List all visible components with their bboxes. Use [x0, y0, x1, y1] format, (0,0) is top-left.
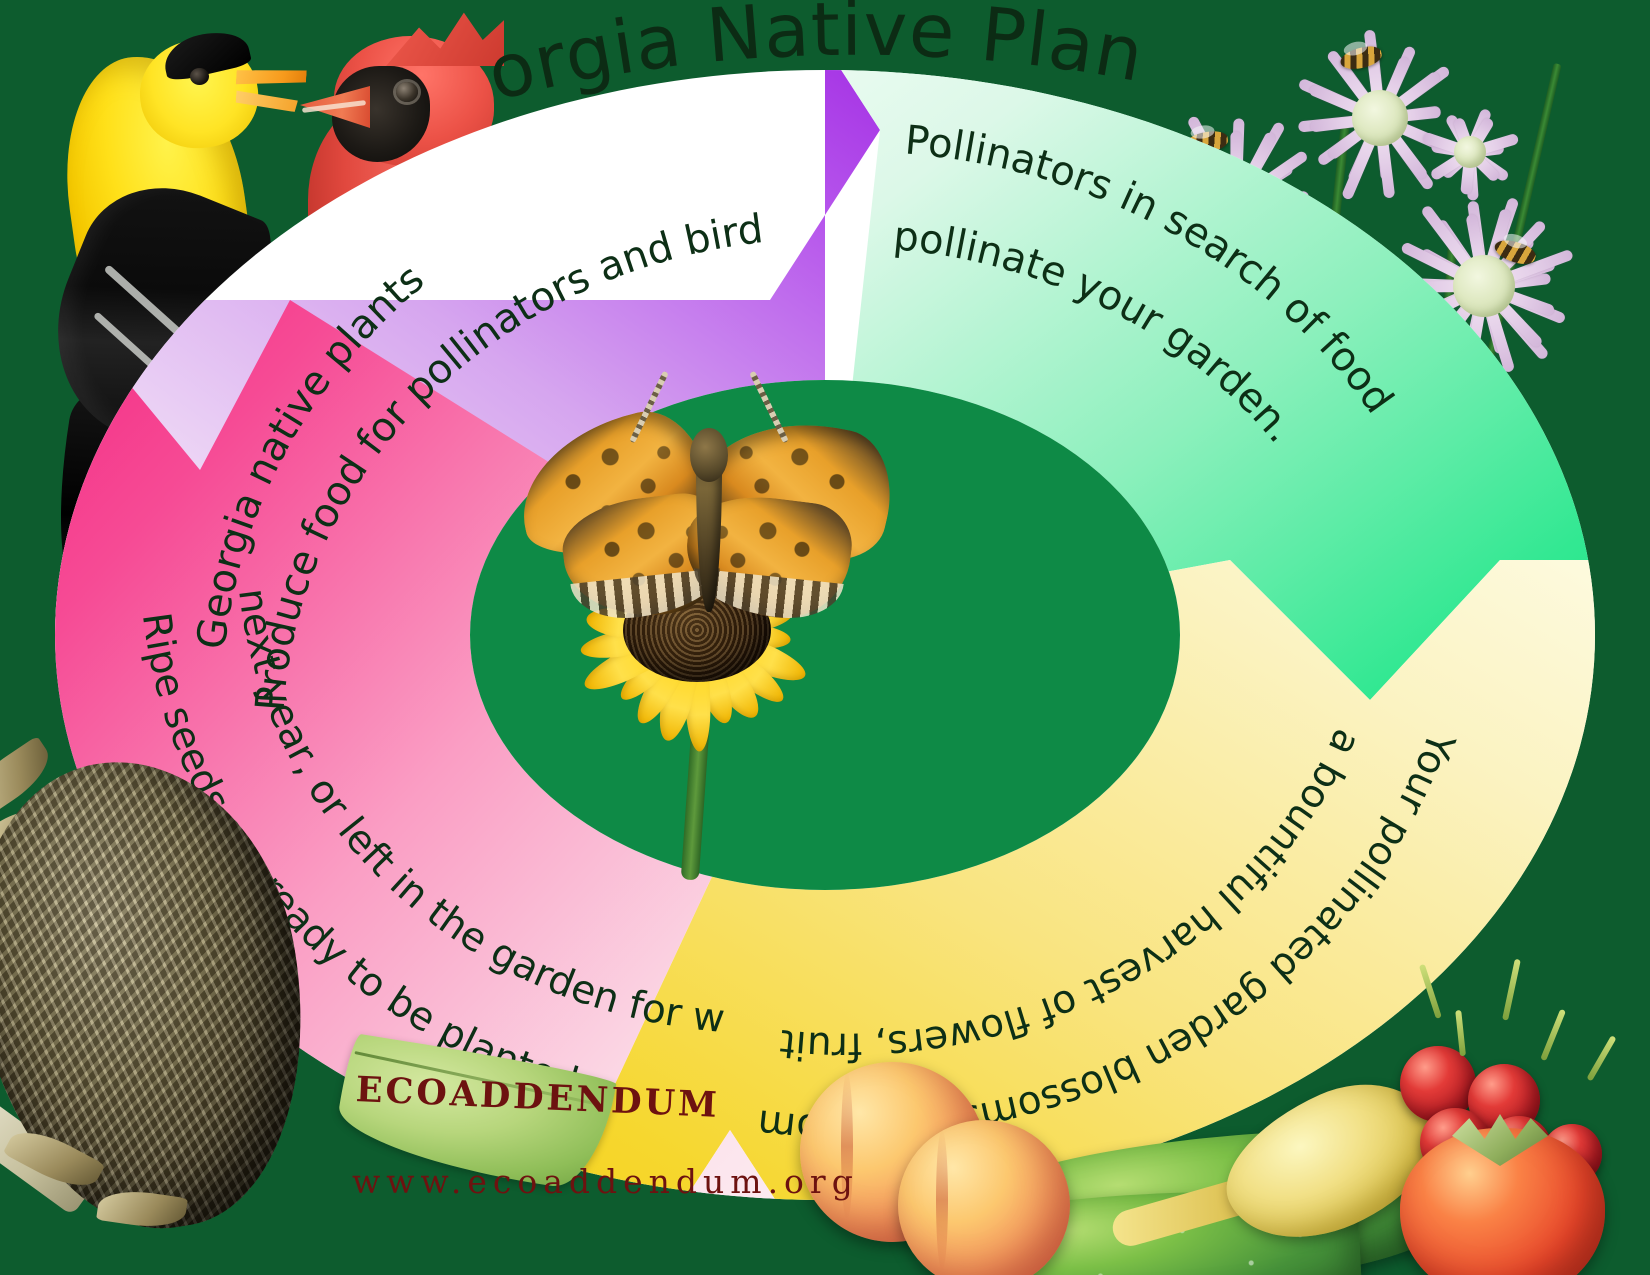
pearl-crescent-butterfly: [460, 380, 980, 680]
peach: [898, 1120, 1070, 1275]
cherry-stem: [1455, 1010, 1466, 1056]
website-url[interactable]: www.ecoaddendum.org: [352, 1162, 859, 1201]
svg-text:Georgia Native Plants: Georgia Native Plants: [0, 0, 1151, 118]
infographic-poster: Georgia native plants Produce food for p…: [0, 0, 1650, 1275]
cherry-stem: [1540, 1009, 1566, 1061]
cherry-stem: [1586, 1035, 1616, 1081]
harvest-produce: [790, 1010, 1650, 1275]
butterfly-on-black-eyed-susan: [460, 380, 980, 780]
poster-title: Georgia Native Plants: [0, 0, 1650, 160]
butterfly-thorax: [690, 428, 728, 482]
dried-sunflower-seed-head: [0, 700, 350, 1275]
